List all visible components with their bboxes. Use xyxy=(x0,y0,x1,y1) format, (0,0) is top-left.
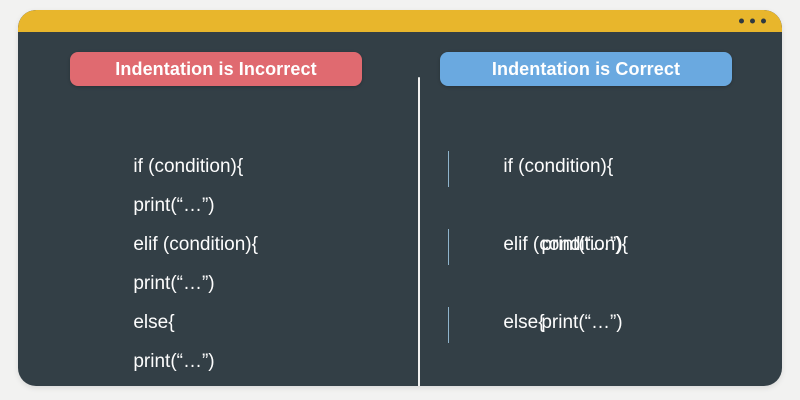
code-line: elif (condition){ xyxy=(70,186,400,225)
error-squiggle-icon xyxy=(70,177,115,183)
indent-guide-icon xyxy=(448,229,449,265)
code-text: print(“…”) xyxy=(133,342,214,381)
code-line: if (condition){ xyxy=(440,108,782,147)
code-line: print(“…”) xyxy=(70,225,400,264)
error-squiggle-icon xyxy=(70,216,115,222)
code-block-correct: if (condition){ print(“…”) elif (conditi… xyxy=(440,108,782,342)
window-dot-icon-1[interactable] xyxy=(739,19,744,24)
error-squiggle-icon xyxy=(70,294,115,300)
code-line: else{ xyxy=(70,264,400,303)
indent-guide-icon xyxy=(448,307,449,343)
badge-indentation-correct: Indentation is Correct xyxy=(440,52,732,86)
code-text: print(“…”) xyxy=(541,381,622,386)
code-line: if (condition){ xyxy=(70,108,400,147)
window-titlebar xyxy=(18,10,782,32)
code-line: print(“…”) xyxy=(440,303,782,342)
window-content: Indentation is Incorrect if (condition){… xyxy=(18,32,782,386)
code-line: print(“…”) xyxy=(70,303,400,342)
code-line: elif (condition){ xyxy=(440,186,782,225)
code-block-incorrect: if (condition){ print(“…”) elif (conditi… xyxy=(70,108,400,342)
indent-guide-icon xyxy=(448,151,449,187)
pane-incorrect: Indentation is Incorrect if (condition){… xyxy=(18,32,400,386)
window-dot-icon-3[interactable] xyxy=(761,19,766,24)
pane-divider xyxy=(418,77,420,386)
code-line: else{ xyxy=(440,264,782,303)
code-line: print(“…”) xyxy=(440,225,782,264)
window-controls[interactable] xyxy=(739,19,766,24)
code-line: print(“…”) xyxy=(440,147,782,186)
page-canvas: Indentation is Incorrect if (condition){… xyxy=(0,0,800,400)
badge-indentation-incorrect: Indentation is Incorrect xyxy=(70,52,362,86)
code-line: print(“…”) xyxy=(70,147,400,186)
pane-correct: Indentation is Correct if (condition){ p… xyxy=(400,32,782,386)
code-editor-window: Indentation is Incorrect if (condition){… xyxy=(18,10,782,386)
window-dot-icon-2[interactable] xyxy=(750,19,755,24)
